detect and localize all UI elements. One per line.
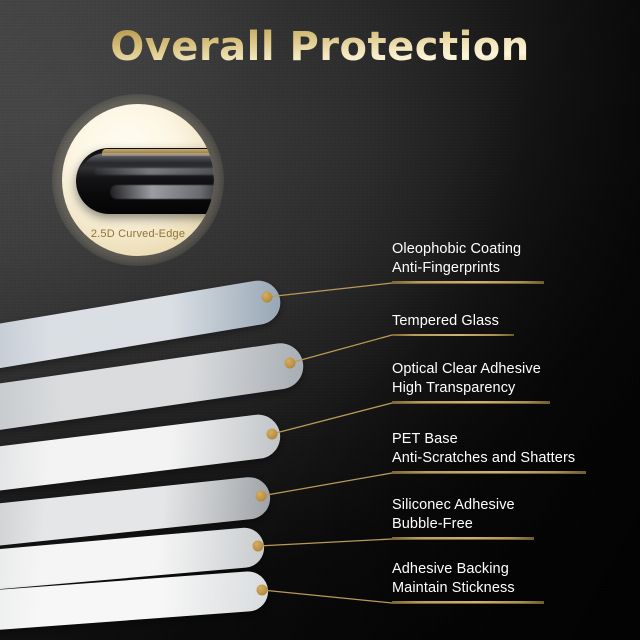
callout-underline — [392, 601, 544, 603]
infographic-canvas: Overall Protection 2.5D Curved-Edge Oleo… — [0, 0, 640, 640]
callout-line1: Tempered Glass — [392, 313, 499, 329]
connector-dot-adhesive-backing — [257, 585, 268, 596]
callout-adhesive-backing: Adhesive BackingMaintain Stickness — [392, 560, 544, 603]
leader-line-oleophobic — [267, 283, 544, 297]
connector-dot-siliconec-adhesive — [253, 541, 264, 552]
callout-siliconec-adhesive: Siliconec AdhesiveBubble-Free — [392, 496, 534, 539]
callout-line1: Oleophobic Coating — [392, 241, 521, 257]
callout-line2: High Transparency — [392, 379, 550, 398]
callout-underline — [392, 537, 534, 539]
callout-line1: Siliconec Adhesive — [392, 497, 515, 513]
callout-underline — [392, 334, 514, 336]
callout-line2: Maintain Stickness — [392, 579, 544, 598]
callout-line1: PET Base — [392, 431, 458, 447]
connector-dot-tempered-glass — [285, 358, 296, 369]
callout-line1: Optical Clear Adhesive — [392, 361, 541, 377]
connector-dot-oleophobic — [262, 292, 273, 303]
callout-tempered-glass: Tempered Glass — [392, 312, 514, 336]
leader-line-siliconec-adhesive — [258, 539, 534, 546]
callout-line2: Anti-Fingerprints — [392, 259, 544, 278]
connector-dot-pet-base — [256, 491, 267, 502]
callout-underline — [392, 471, 586, 473]
callout-line2: Anti-Scratches and Shatters — [392, 449, 586, 468]
callout-pet-base: PET BaseAnti-Scratches and Shatters — [392, 430, 586, 473]
leader-line-pet-base — [261, 473, 586, 496]
callout-line1: Adhesive Backing — [392, 561, 509, 577]
connector-dot-optical-clear-adhesive — [267, 429, 278, 440]
callout-line2: Bubble-Free — [392, 515, 534, 534]
leader-line-tempered-glass — [290, 335, 514, 363]
callout-underline — [392, 281, 544, 283]
callout-underline — [392, 401, 550, 403]
callout-oleophobic: Oleophobic CoatingAnti-Fingerprints — [392, 240, 544, 283]
callout-optical-clear-adhesive: Optical Clear AdhesiveHigh Transparency — [392, 360, 550, 403]
leader-line-group — [0, 0, 640, 640]
